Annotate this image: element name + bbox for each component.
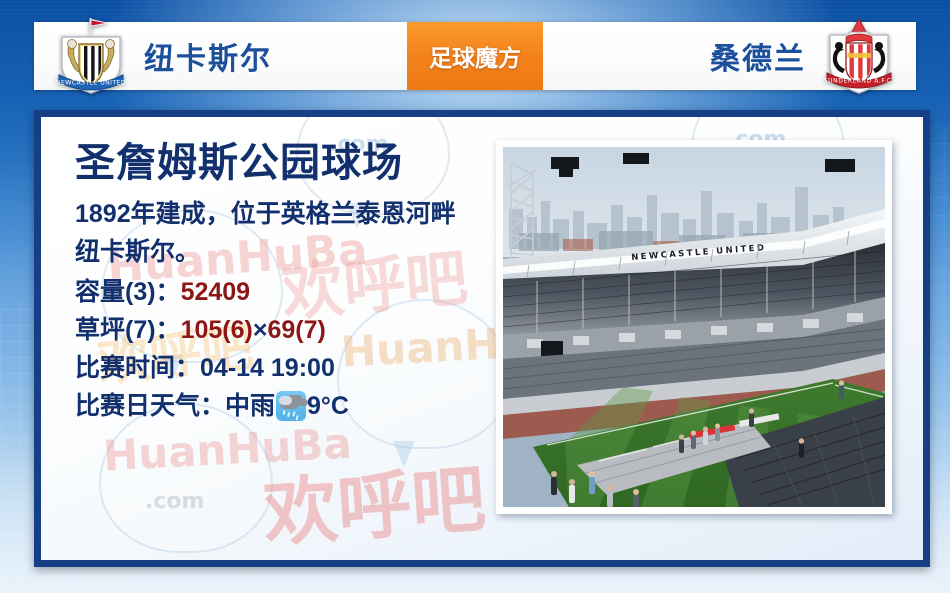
watermark-brand-cn: 欢呼吧 [260,439,489,561]
weather-temperature: 9°C [307,387,349,425]
sunderland-afc-crest: SUNDERLAND A.F.C. [816,13,902,99]
brand-logo-label: 足球魔方 [429,39,521,73]
pitch-width: 69(7) [267,311,325,349]
newcastle-united-crest: NEWCASTLE UNITED [48,13,134,99]
home-team-block[interactable]: NEWCASTLE UNITED 纽卡斯尔 [34,13,407,99]
pitch-label: 草坪(7)： [75,311,181,349]
watermark-brand-latin: HuanHuBa [102,423,353,478]
weather-condition: 中雨 [225,387,275,425]
home-team-name: 纽卡斯尔 [144,34,272,78]
match-time-value: 04-14 19:00 [200,349,335,387]
watermark-bubble [99,403,273,553]
away-team-block[interactable]: 桑德兰 [543,13,916,99]
stadium-photo-frame: NEWCASTLE UNITED [496,140,892,514]
stadium-description: 1892年建成，位于英格兰泰恩河畔纽卡斯尔。 [75,195,475,271]
match-time-label: 比赛时间： [75,349,200,387]
moderate-rain-icon [276,391,306,421]
weather-label: 比赛日天气： [75,387,225,425]
match-header-bar: NEWCASTLE UNITED 纽卡斯尔 足球魔方 桑德兰 [34,22,916,90]
capacity-value: 52409 [181,273,251,311]
stadium-detail-panel: .com .com HuanHuBa HuanHuBa HuanHuBa .co… [34,110,930,567]
pitch-multiply-sign: × [253,311,268,349]
brand-logo[interactable]: 足球魔方 [407,22,543,90]
capacity-row: 容量(3)： 52409 [75,273,495,311]
stadium-info-card: NEWCASTLE UNITED 纽卡斯尔 足球魔方 桑德兰 [0,0,950,593]
pitch-length: 105(6) [181,311,253,349]
away-team-name: 桑德兰 [710,34,806,78]
watermark-domain: .com [145,489,204,514]
stadium-photo: NEWCASTLE UNITED [503,147,885,507]
watermark-bubble-tail [393,441,415,467]
stadium-info-column: 圣詹姆斯公园球场 1892年建成，位于英格兰泰恩河畔纽卡斯尔。 容量(3)： 5… [75,141,495,425]
svg-text:NEWCASTLE UNITED: NEWCASTLE UNITED [56,80,126,87]
match-time-row: 比赛时间： 04-14 19:00 [75,349,495,387]
svg-text:SUNDERLAND A.F.C.: SUNDERLAND A.F.C. [824,78,894,85]
weather-row: 比赛日天气： 中雨 9°C [75,387,495,425]
stadium-title: 圣詹姆斯公园球场 [75,141,495,185]
pitch-row: 草坪(7)： 105(6) × 69(7) [75,311,495,349]
capacity-label: 容量(3)： [75,273,181,311]
